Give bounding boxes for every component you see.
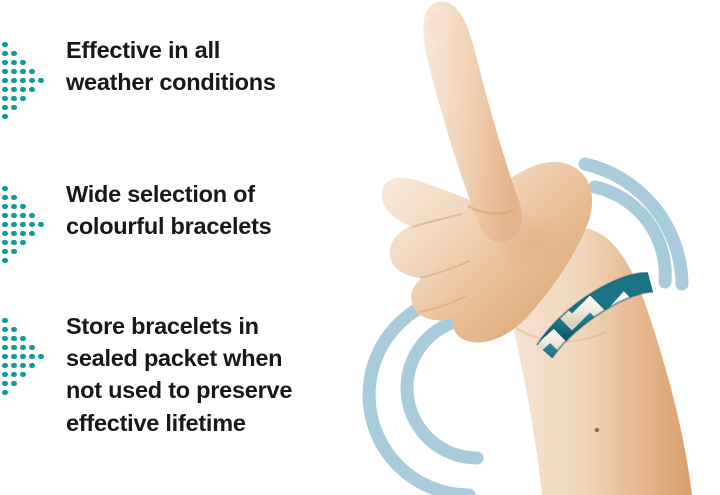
dot (38, 354, 44, 360)
dot (11, 354, 17, 360)
dot (2, 51, 8, 57)
dot-triangle-icon (2, 184, 46, 265)
dot-row (2, 85, 38, 94)
dot (20, 78, 26, 84)
dot-row (2, 379, 20, 388)
dot (29, 354, 35, 360)
dot-row (2, 370, 29, 379)
feature-item-1-label: Effective in all weather conditions (66, 34, 276, 98)
dot (11, 78, 17, 84)
dot (2, 186, 8, 192)
dot (11, 51, 17, 57)
dot (11, 195, 17, 201)
dot (11, 96, 17, 102)
dot (2, 195, 8, 201)
dot (20, 354, 26, 360)
dot-row (2, 49, 20, 58)
dot (29, 213, 35, 219)
dot (2, 69, 8, 75)
dot-triangle-icon (2, 40, 46, 121)
dot (29, 363, 35, 369)
infographic-root: Effective in all weather conditions Wide… (0, 0, 720, 495)
dot-row (2, 229, 38, 238)
dot (11, 240, 17, 246)
dot-row (2, 388, 11, 397)
dot (11, 345, 17, 351)
dot (2, 87, 8, 93)
dot (11, 327, 17, 333)
dot (20, 345, 26, 351)
dot (2, 372, 8, 378)
dot-row (2, 202, 29, 211)
dot-row (2, 334, 29, 343)
dot (29, 222, 35, 228)
dot-row (2, 193, 20, 202)
dot (20, 204, 26, 210)
dot (11, 222, 17, 228)
dot (11, 213, 17, 219)
dot-row (2, 247, 20, 256)
dot (2, 258, 8, 264)
dot (2, 249, 8, 255)
dot (29, 345, 35, 351)
dot-row (2, 325, 20, 334)
dot (2, 354, 8, 360)
dot-row (2, 361, 38, 370)
dot (20, 87, 26, 93)
dot (20, 372, 26, 378)
dot-row (2, 76, 47, 85)
dot (2, 78, 8, 84)
dot (20, 222, 26, 228)
dot (11, 336, 17, 342)
dot (11, 204, 17, 210)
dot-triangle-icon (2, 316, 46, 397)
dot (2, 96, 8, 102)
dot (2, 318, 8, 324)
feature-item-3-label: Store bracelets in sealed packet when no… (66, 310, 292, 439)
dot (11, 372, 17, 378)
dot-row (2, 352, 47, 361)
dot-row (2, 184, 11, 193)
dot-row (2, 343, 38, 352)
dot (2, 42, 8, 48)
dot (2, 204, 8, 210)
dot-row (2, 238, 29, 247)
dot (11, 105, 17, 111)
dot (11, 381, 17, 387)
dot (29, 231, 35, 237)
dot (2, 222, 8, 228)
dot-row (2, 67, 38, 76)
dot (20, 213, 26, 219)
dot (20, 231, 26, 237)
dot-row (2, 112, 11, 121)
feature-item-1: Effective in all weather conditions (2, 34, 276, 121)
dot (2, 327, 8, 333)
dot (2, 231, 8, 237)
dot (29, 78, 35, 84)
skin-mole (595, 428, 599, 432)
dot-row (2, 94, 29, 103)
dot (11, 69, 17, 75)
feature-list: Effective in all weather conditions Wide… (0, 0, 362, 495)
dot (20, 96, 26, 102)
dot-row (2, 103, 20, 112)
dot (11, 60, 17, 66)
dot (38, 222, 44, 228)
feature-item-3: Store bracelets in sealed packet when no… (2, 310, 292, 439)
hand-with-bracelet-photo (362, 0, 720, 495)
dot-row (2, 211, 38, 220)
feature-item-2: Wide selection of colourful bracelets (2, 178, 272, 265)
dot (20, 240, 26, 246)
hand-illustration (362, 0, 720, 495)
dot (2, 345, 8, 351)
dot (2, 381, 8, 387)
dot (2, 363, 8, 369)
dot (2, 60, 8, 66)
dot-row (2, 256, 11, 265)
dot-row (2, 58, 29, 67)
dot-row (2, 316, 11, 325)
dot (11, 231, 17, 237)
dot-row (2, 220, 47, 229)
dot (20, 69, 26, 75)
dot (11, 363, 17, 369)
dot (2, 114, 8, 120)
dot (38, 78, 44, 84)
dot-row (2, 40, 11, 49)
dot (20, 60, 26, 66)
dot (29, 87, 35, 93)
dot (2, 213, 8, 219)
dot (11, 87, 17, 93)
dot (2, 105, 8, 111)
dot (11, 249, 17, 255)
dot (20, 336, 26, 342)
dot (2, 240, 8, 246)
dot (2, 390, 8, 396)
dot (29, 69, 35, 75)
dot (2, 336, 8, 342)
dot (20, 363, 26, 369)
feature-item-2-label: Wide selection of colourful bracelets (66, 178, 272, 242)
